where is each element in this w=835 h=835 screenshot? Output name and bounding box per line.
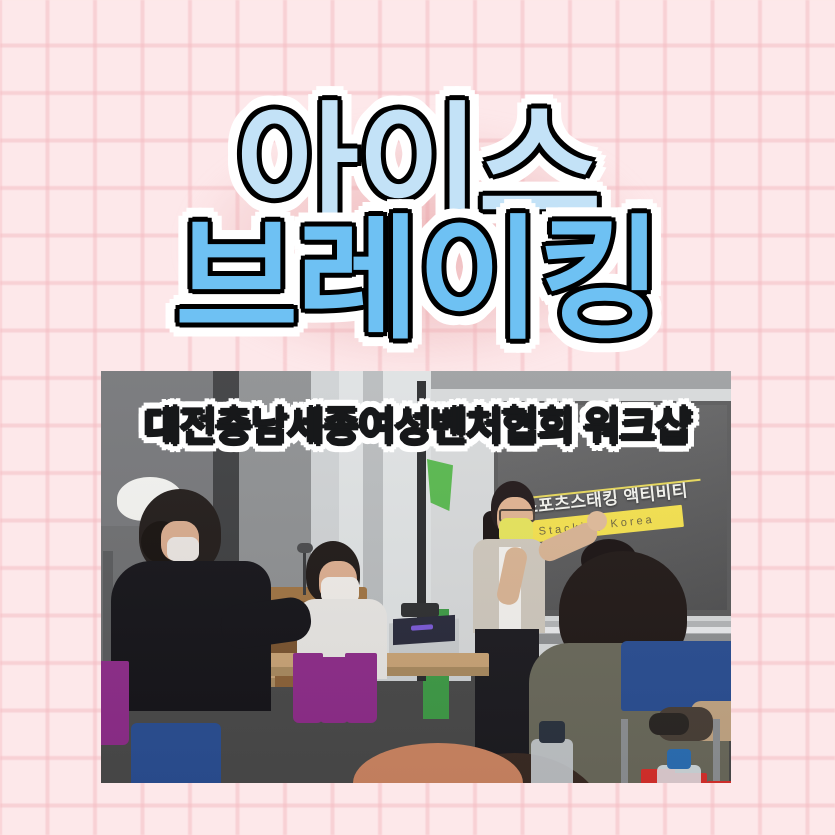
chair-left-mid [131, 723, 221, 783]
microphone-head [297, 543, 313, 553]
promo-card: 스포츠스태킹 액티비티 Stacking Korea [0, 0, 835, 835]
workshop-photo: 스포츠스태킹 액티비티 Stacking Korea [101, 371, 731, 783]
shoes-on-table [649, 713, 689, 735]
av-cables [401, 603, 439, 617]
accent-blob [185, 120, 655, 370]
presenter-hand [587, 511, 607, 531]
water-bottle-cap [667, 749, 691, 769]
laptop-screen [393, 615, 455, 645]
purple-cup-stack-4 [345, 653, 377, 723]
ceiling-strip [431, 371, 731, 389]
table-leg-3 [621, 719, 628, 783]
attendee-black-mask [167, 537, 199, 561]
red-cup-stack-5 [707, 781, 731, 783]
table-leg-4 [713, 719, 720, 783]
thermos-cap [539, 721, 565, 743]
thermos-bottle [531, 739, 573, 783]
purple-cup-stack-1 [101, 661, 129, 745]
